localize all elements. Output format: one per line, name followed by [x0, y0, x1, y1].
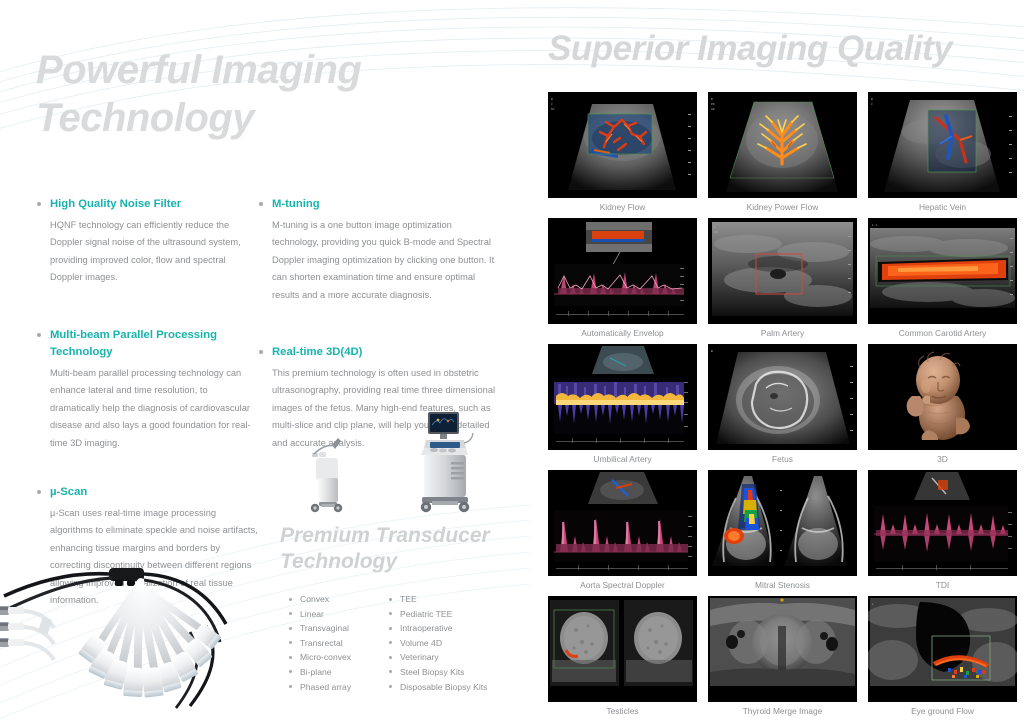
image-cell: Testicles	[548, 596, 697, 720]
image-caption: Hepatic Vein	[868, 198, 1017, 216]
right-panel-title: Superior Imaging Quality	[548, 28, 1024, 70]
bullet-icon	[289, 641, 292, 644]
image-caption: Eye ground Flow	[868, 702, 1017, 720]
svg-text:57: 57	[551, 108, 555, 111]
svg-text:60: 60	[711, 108, 715, 111]
bullet-icon	[289, 670, 292, 673]
svg-text:C: C	[871, 103, 873, 106]
image-caption: TDI	[868, 576, 1017, 594]
feature-heading: High Quality Noise Filter	[36, 196, 258, 214]
image-cell: BC Hepatic Vein	[868, 92, 1017, 216]
list-item: Convex	[288, 592, 388, 607]
image-caption: Palm Artery	[708, 324, 857, 342]
transducer-lists: Convex Linear Transvaginal Transrectal M…	[288, 592, 498, 694]
ultrasound-machines-illustration	[288, 408, 478, 520]
ultrasound-image-tdi[interactable]	[868, 470, 1017, 576]
feature-heading-text: High Quality Noise Filter	[50, 198, 181, 210]
bullet-icon	[389, 685, 392, 688]
image-cell: BPD60 Kidney Power Flow	[708, 92, 857, 216]
list-item-label: Phased array	[300, 682, 351, 692]
bullet-icon	[289, 656, 292, 659]
image-cell: Automatically Envelop	[548, 218, 697, 342]
image-caption: Common Carotid Artery	[868, 324, 1017, 342]
image-caption: Testicles	[548, 702, 697, 720]
bullet-icon	[37, 202, 41, 206]
list-item: Volume 4D	[388, 636, 498, 651]
list-item: TEE	[388, 592, 498, 607]
image-caption: Thyroid Merge Image	[708, 702, 857, 720]
list-item: Transrectal	[288, 636, 388, 651]
list-item: Linear	[288, 607, 388, 622]
feature-heading-text: Multi-beam Parallel Processing Technolog…	[50, 329, 217, 359]
image-cell: L C Common Carotid Artery	[868, 218, 1017, 342]
image-cell: Mitral Stenosis	[708, 470, 857, 594]
ultrasound-image-grid: BC57 Kidney Flow	[548, 92, 1018, 720]
list-item-label: Volume 4D	[400, 638, 442, 648]
image-cell: L Eye ground Flow	[868, 596, 1017, 720]
list-item-label: Linear	[300, 609, 324, 619]
svg-text:12: 12	[714, 231, 718, 234]
bullet-icon	[259, 350, 263, 354]
ultrasound-image-kidney-power-flow[interactable]: BPD60	[708, 92, 857, 198]
image-caption: Automatically Envelop	[548, 324, 697, 342]
image-caption: Kidney Flow	[548, 198, 697, 216]
feature-item: Multi-beam Parallel Processing Technolog…	[36, 327, 258, 453]
ultrasound-image-eye-ground-flow[interactable]: L	[868, 596, 1017, 702]
feature-body: HQNF technology can efficiently reduce t…	[36, 217, 258, 287]
left-panel: Powerful Imaging Technology High Quality…	[0, 0, 520, 727]
ultrasound-image-3d-fetus[interactable]	[868, 344, 1017, 450]
ultrasound-image-common-carotid-artery[interactable]: L C	[868, 218, 1017, 324]
bullet-icon	[37, 490, 41, 494]
list-item: Pediatric TEE	[388, 607, 498, 622]
list-item: Micro-convex	[288, 650, 388, 665]
feature-heading: M-tuning	[258, 196, 498, 214]
image-cell: Aorta Spectral Doppler	[548, 470, 697, 594]
bullet-icon	[389, 598, 392, 601]
image-cell: BC57 Kidney Flow	[548, 92, 697, 216]
feature-body: M-tuning is a one button image optimizat…	[258, 217, 498, 305]
list-item-label: Veterinary	[400, 652, 439, 662]
ultrasound-image-testicles[interactable]	[548, 596, 697, 702]
image-caption: Aorta Spectral Doppler	[548, 576, 697, 594]
bullet-icon	[259, 202, 263, 206]
ultrasound-image-hepatic-vein[interactable]: BC	[868, 92, 1017, 198]
ultrasound-image-automatically-envelop[interactable]	[548, 218, 697, 324]
ultrasound-image-mitral-stenosis[interactable]	[708, 470, 857, 576]
feature-heading: Real-time 3D(4D)	[258, 344, 498, 362]
image-caption: Kidney Power Flow	[708, 198, 857, 216]
transducer-probes-illustration	[0, 566, 274, 727]
svg-text:B: B	[551, 98, 553, 101]
feature-body: Multi-beam parallel processing technolog…	[36, 365, 258, 453]
svg-text:PD: PD	[711, 103, 715, 106]
bullet-icon	[389, 612, 392, 615]
list-item-label: Pediatric TEE	[400, 609, 452, 619]
list-item-label: Transvaginal	[300, 623, 349, 633]
feature-heading-text: Real-time 3D(4D)	[272, 346, 362, 358]
feature-heading-text: M-tuning	[272, 198, 320, 210]
list-item: Intraoperative	[388, 621, 498, 636]
bullet-icon	[389, 627, 392, 630]
bullet-icon	[389, 656, 392, 659]
bullet-icon	[289, 612, 292, 615]
feature-item: M-tuning M-tuning is a one button image …	[258, 196, 498, 304]
feature-column-left: High Quality Noise Filter HQNF technolog…	[36, 196, 258, 630]
right-panel: Superior Imaging Quality	[520, 0, 1024, 727]
image-cell: B Fetus	[708, 344, 857, 468]
list-item: Bi-plane	[288, 665, 388, 680]
ultrasound-image-thyroid-merge[interactable]	[708, 596, 857, 702]
list-item-label: Transrectal	[300, 638, 343, 648]
image-cell: TDI	[868, 470, 1017, 594]
ultrasound-image-umbilical-artery[interactable]	[548, 344, 697, 450]
feature-heading: Multi-beam Parallel Processing Technolog…	[36, 327, 258, 362]
svg-text:L: L	[872, 603, 874, 606]
svg-text:L C: L C	[872, 224, 878, 227]
list-item: Steel Biopsy Kits	[388, 665, 498, 680]
list-item: Disposable Biopsy Kits	[388, 680, 498, 695]
ultrasound-image-kidney-flow[interactable]: BC57	[548, 92, 697, 198]
bullet-icon	[37, 333, 41, 337]
svg-text:B: B	[711, 98, 713, 101]
transducer-section-title: Premium Transducer Technology	[280, 523, 510, 575]
list-item: Transvaginal	[288, 621, 388, 636]
image-cell: Umbilical Artery	[548, 344, 697, 468]
svg-text:B: B	[711, 350, 713, 353]
list-item-label: Bi-plane	[300, 667, 332, 677]
bullet-icon	[389, 670, 392, 673]
image-cell: Thyroid Merge Image	[708, 596, 857, 720]
feature-item: High Quality Noise Filter HQNF technolog…	[36, 196, 258, 287]
ultrasound-image-fetus[interactable]: B	[708, 344, 857, 450]
bullet-icon	[289, 627, 292, 630]
svg-text:L: L	[714, 226, 716, 229]
list-item-label: TEE	[400, 594, 417, 604]
transducer-list-column-2: TEE Pediatric TEE Intraoperative Volume …	[388, 592, 498, 694]
feature-heading-text: µ-Scan	[50, 486, 87, 498]
list-item-label: Micro-convex	[300, 652, 351, 662]
image-caption: 3D	[868, 450, 1017, 468]
list-item-label: Convex	[300, 594, 329, 604]
image-caption: Umbilical Artery	[548, 450, 697, 468]
bullet-icon	[389, 641, 392, 644]
image-caption: Fetus	[708, 450, 857, 468]
list-item-label: Disposable Biopsy Kits	[400, 682, 487, 692]
image-cell: L12 Palm Artery	[708, 218, 857, 342]
transducer-list-column-1: Convex Linear Transvaginal Transrectal M…	[288, 592, 388, 694]
list-item: Veterinary	[388, 650, 498, 665]
bullet-icon	[289, 598, 292, 601]
feature-heading: µ-Scan	[36, 484, 258, 502]
svg-text:C: C	[551, 103, 553, 106]
list-item-label: Steel Biopsy Kits	[400, 667, 464, 677]
image-caption: Mitral Stenosis	[708, 576, 857, 594]
list-item: Phased array	[288, 680, 388, 695]
bullet-icon	[289, 685, 292, 688]
ultrasound-image-palm-artery[interactable]: L12	[708, 218, 857, 324]
image-cell: 3D	[868, 344, 1017, 468]
list-item-label: Intraoperative	[400, 623, 453, 633]
ultrasound-image-aorta-spectral-doppler[interactable]	[548, 470, 697, 576]
svg-text:B: B	[871, 98, 873, 101]
page-title: Powerful Imaging Technology	[36, 46, 476, 142]
